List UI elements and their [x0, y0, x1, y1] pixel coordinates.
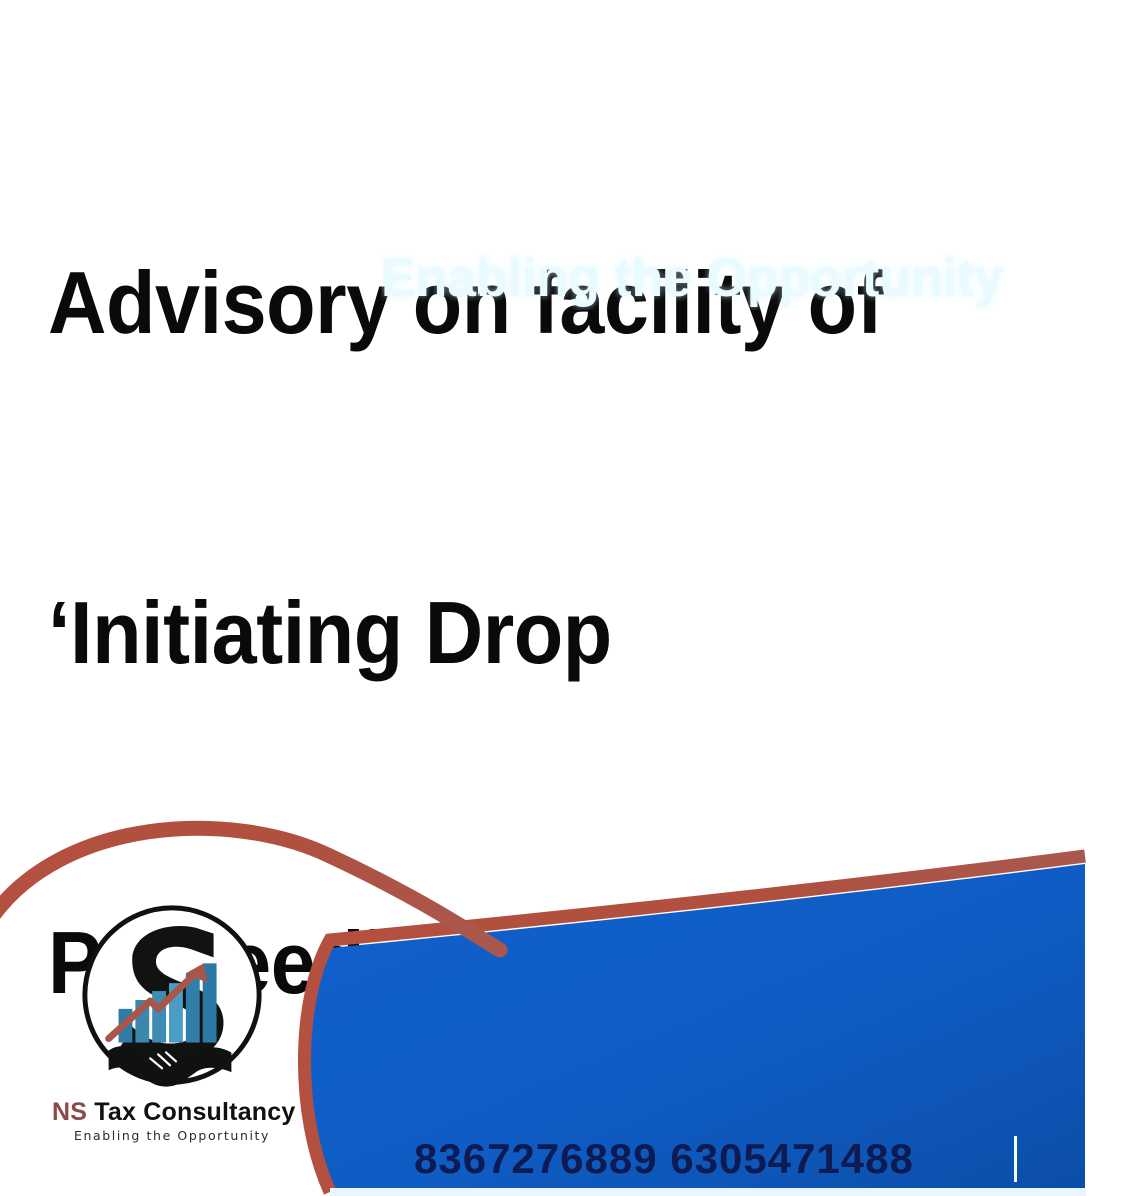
panel-phone-clip: 8367276889 6305471488 — [414, 1135, 1114, 1187]
panel-tagline-clip: Enabling the Opportunity — [381, 248, 1141, 310]
panel-phone-numbers: 8367276889 6305471488 — [414, 1135, 1114, 1183]
poster-canvas: Advisory on facility of ‘Initiating Drop… — [0, 0, 1144, 1196]
brand-logo-block: NS Tax Consultancy Enabling the Opportun… — [52, 898, 292, 1143]
text-caret — [1014, 1136, 1017, 1182]
panel-tagline: Enabling the Opportunity — [381, 248, 1111, 308]
panel-bottom-strip — [330, 1188, 1086, 1196]
ns-monogram-growth-handshake-logo — [73, 898, 271, 1096]
brand-wordmark-prefix: NS — [52, 1098, 87, 1126]
brand-wordmark-rest: Tax Consultancy — [87, 1098, 295, 1126]
brand-wordmark: NS Tax Consultancy — [52, 1098, 292, 1127]
headline-line-2: ‘Initiating Drop — [48, 578, 1023, 688]
brand-logo-tagline: Enabling the Opportunity — [52, 1128, 292, 1143]
